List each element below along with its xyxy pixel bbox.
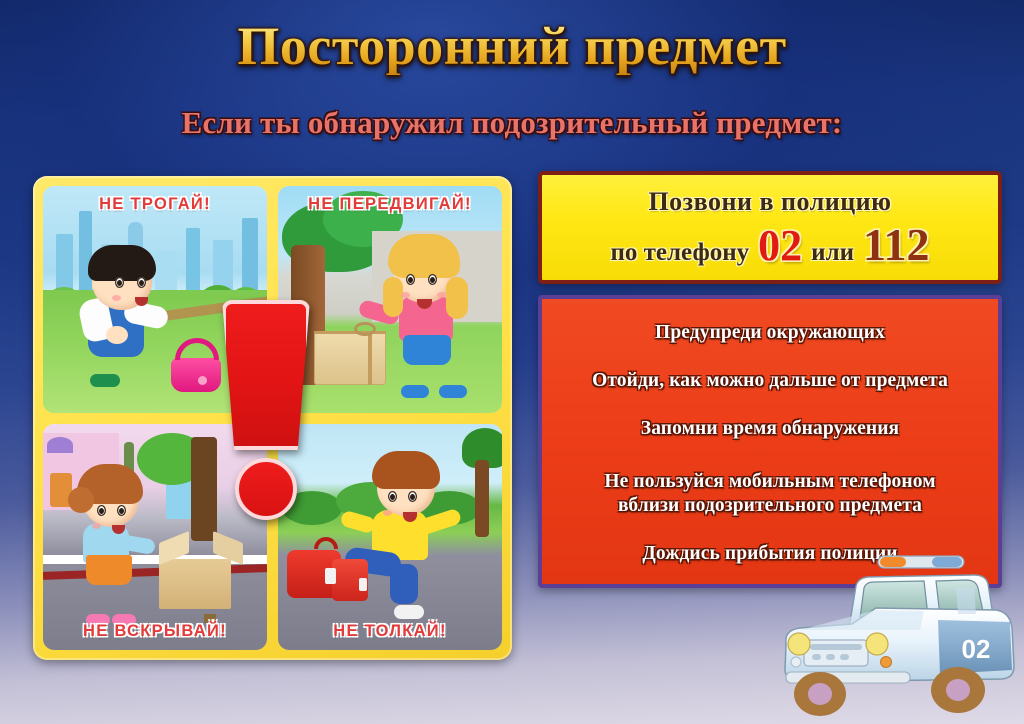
parcel-box-object [314,331,386,385]
exclamation-dot [235,458,297,520]
roof-light-bar-icon [878,556,964,568]
girl-hair-side [383,277,403,317]
phone-prefix-label: по телефону [611,239,750,267]
safety-rules-box: Предупреди окружающих Отойди, как можно … [538,295,1002,588]
boy-cheek [383,510,392,516]
girl-hair-side [446,277,468,319]
police-car-door-number: 02 [962,634,991,664]
boy-eye-left [115,277,124,288]
girl-skirt [86,555,132,585]
panel-label: НЕ ПЕРЕДВИГАЙ! [278,195,502,214]
headlight-icon [788,633,810,655]
rule-item-line1: Не пользуйся мобильным телефоном [604,470,935,494]
girl-shoe [401,385,429,398]
girl-skirt [403,335,451,365]
awning-shape [47,437,73,453]
headlight-icon [866,633,888,655]
tree-trunk-icon [475,460,489,537]
tree-trunk-icon [191,437,217,541]
luggage-tag [325,568,336,584]
boy-cheek [112,295,121,301]
suitcase-lock [359,578,367,591]
cardboard-box-object [159,559,231,609]
panel-label: НЕ ВСКРЫВАЙ! [43,622,267,641]
call-police-box: Позвони в полицию по телефону 02 или 112 [538,171,1002,284]
police-car-illustration: 02 [760,548,1024,724]
phone-number-112: 112 [863,224,929,265]
boy-eye-right [137,277,146,288]
panel-label: НЕ ТОЛКАЙ! [278,622,502,641]
girl-ponytail [68,487,94,513]
suitcase-handle [314,537,338,549]
rule-item-line2: вблизи подозрительного предмета [618,494,922,518]
girl-eye-left [406,274,415,285]
handbag-object [171,358,221,392]
call-police-numbers: по телефону 02 или 112 [611,224,930,267]
phone-number-02: 02 [758,226,802,266]
parcel-bow [354,322,376,336]
page-subtitle: Если ты обнаружил подозрительный предмет… [0,105,1024,141]
girl-hair [388,234,460,278]
page-title: Посторонний предмет [0,18,1024,75]
safety-poster: Посторонний предмет Если ты обнаружил по… [0,0,1024,724]
girl-eye-right [117,505,126,516]
exclamation-bar [222,300,310,450]
rule-item: Отойди, как можно дальше от предмета [592,369,948,393]
panel-label: НЕ ТРОГАЙ! [43,195,267,214]
handbag-clasp [198,376,207,385]
parcel-ribbon [368,331,372,385]
boy-leg-right [390,564,418,604]
boy-hair [372,451,440,489]
boy-shoe [90,374,120,387]
rule-item: Предупреди окружающих [655,321,885,345]
girl-shoe [439,385,467,398]
girl-eye-left [97,505,106,516]
red-stripe [43,565,267,581]
call-police-heading: Позвони в полицию [648,187,891,217]
conjunction-label: или [811,239,854,267]
rule-item: Запомни время обнаружения [641,417,899,441]
boy-hair [88,245,156,281]
boy-shoe [394,605,424,619]
exclamation-mark-icon [218,300,314,520]
